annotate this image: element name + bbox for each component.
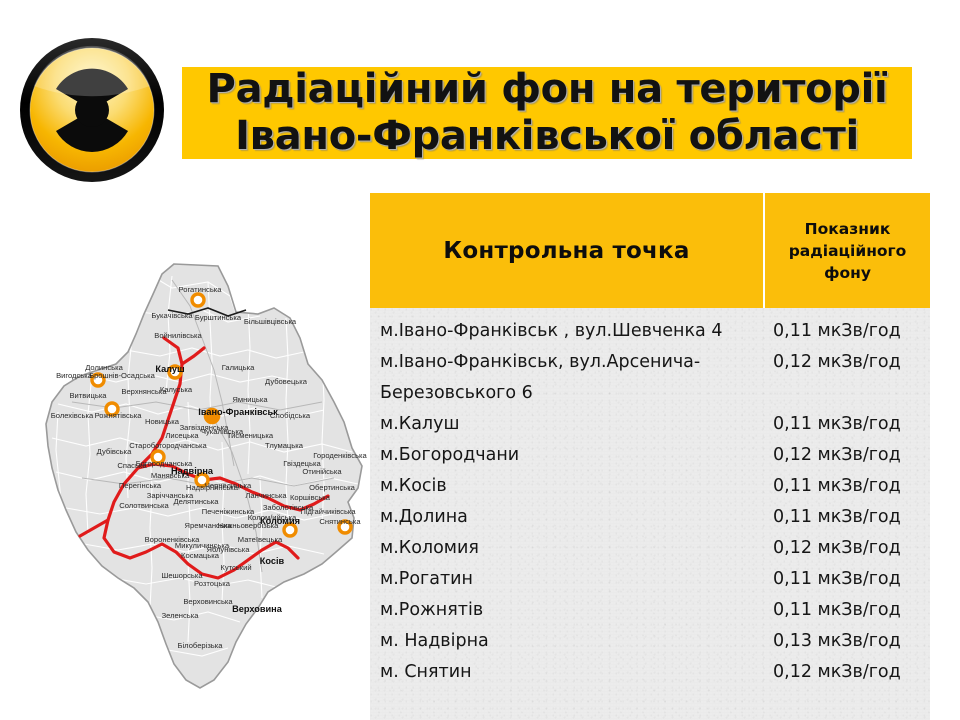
cell-control-point: м.Коломия <box>370 533 763 564</box>
map-district-label: Шешорська <box>161 571 203 580</box>
column-header-point: Контрольна точка <box>370 193 763 308</box>
cell-radiation-value: 0,12 мкЗв/год <box>763 347 930 378</box>
table-rows-container: м.Івано-Франківськ , вул.Шевченка 40,11 … <box>370 316 930 688</box>
cell-radiation-value: 0,11 мкЗв/год <box>763 564 930 595</box>
map-city-label: Коломия <box>260 516 300 526</box>
map-district-label: Букачівська <box>151 311 193 320</box>
map-district-label: Отинійська <box>302 467 342 476</box>
radiation-hazard-icon <box>16 34 168 186</box>
column-header-value-line-2: радіаційного <box>789 240 907 262</box>
marker-rohatyn <box>192 294 204 306</box>
map-district-label: Микуличинська <box>175 541 230 550</box>
map-district-label: Солотвинська <box>119 501 169 510</box>
map-district-label: Розтоцька <box>194 579 231 588</box>
map-district-label: Надвірнянська <box>186 483 239 492</box>
map-district-label: Лисецька <box>165 431 199 440</box>
map-district-label: Галицька <box>222 363 255 372</box>
radiation-table: Контрольна точка Показник радіаційного ф… <box>370 193 930 720</box>
map-city-label: Косів <box>260 556 285 566</box>
cell-control-point: м.Івано-Франківськ , вул.Шевченка 4 <box>370 316 763 347</box>
map-city-label: Калуш <box>155 364 184 374</box>
table-row: м.Богородчани0,12 мкЗв/год <box>370 440 930 471</box>
map-district-label: Старобогородчанська <box>129 441 207 450</box>
map-district-label: Заріччанська <box>147 491 194 500</box>
cell-radiation-value: 0,12 мкЗв/год <box>763 440 930 471</box>
map-district-label: Брошнів-Осадська <box>89 371 156 380</box>
map-district-label: Матеївецька <box>238 535 283 544</box>
page-title-line-2: Івано-Франківської області <box>182 113 912 160</box>
map-district-label: Зеленська <box>162 611 200 620</box>
ivano-frankivsk-oblast-map: РогатинськаБукачівськаБурштинськаБільшів… <box>22 252 370 694</box>
cell-control-point: м.Рожнятів <box>370 595 763 626</box>
map-district-label: Білоберізька <box>178 641 224 650</box>
cell-radiation-value: 0,11 мкЗв/год <box>763 316 930 347</box>
map-district-label: Більшівцівська <box>244 317 297 326</box>
cell-radiation-value: 0,11 мкЗв/год <box>763 595 930 626</box>
map-district-label: Дубівська <box>97 447 132 456</box>
map-district-label: Ямницька <box>232 395 268 404</box>
cell-control-point: м.Богородчани <box>370 440 763 471</box>
cell-control-point: м. Надвірна <box>370 626 763 657</box>
table-row: м.Рогатин0,11 мкЗв/год <box>370 564 930 595</box>
cell-control-point: м.Калуш <box>370 409 763 440</box>
map-district-label: Тисменицька <box>227 431 274 440</box>
map-district-label: Перегінська <box>119 481 162 490</box>
map-district-label: Городенківська <box>313 451 367 460</box>
map-district-label: Заболотівська <box>263 503 314 512</box>
cell-control-point: м. Снятин <box>370 657 763 688</box>
map-city-label: Надвірна <box>171 466 214 476</box>
column-header-value: Показник радіаційного фону <box>763 193 930 308</box>
map-district-label: Снятинська <box>319 517 361 526</box>
slide-canvas: Радіаційний фон на території Івано-Франк… <box>0 0 960 720</box>
table-row: м.Рожнятів0,11 мкЗв/год <box>370 595 930 626</box>
cell-control-point: м.Рогатин <box>370 564 763 595</box>
page-title: Радіаційний фон на території Івано-Франк… <box>182 66 912 160</box>
map-district-label: Вигодська <box>56 371 93 380</box>
table-row: м. Снятин0,12 мкЗв/год <box>370 657 930 688</box>
table-row: м. Надвірна0,13 мкЗв/год <box>370 626 930 657</box>
map-district-label: Коршівська <box>290 493 331 502</box>
map-district-label: Рогатинська <box>179 285 223 294</box>
column-header-value-line-3: фону <box>789 262 907 284</box>
map-district-label: Новицька <box>145 417 180 426</box>
column-header-value-line-1: Показник <box>789 218 907 240</box>
table-row: м.Косів0,11 мкЗв/год <box>370 471 930 502</box>
map-district-label: Бурштинська <box>195 313 242 322</box>
map-district-label: Дубовецька <box>265 377 308 386</box>
map-district-label: Верховинська <box>183 597 233 606</box>
table-row: м.Івано-Франківськ, вул.Арсенича-0,12 мк… <box>370 347 930 378</box>
cell-radiation-value: 0,11 мкЗв/год <box>763 471 930 502</box>
map-district-label: Калуська <box>160 385 193 394</box>
cell-radiation-value: 0,11 мкЗв/год <box>763 502 930 533</box>
table-body: м.Івано-Франківськ , вул.Шевченка 40,11 … <box>370 308 930 720</box>
table-row: м.Калуш0,11 мкЗв/год <box>370 409 930 440</box>
map-district-label: Космацька <box>181 551 220 560</box>
cell-radiation-value: 0,13 мкЗв/год <box>763 626 930 657</box>
map-district-label: Рожнятівська <box>95 411 143 420</box>
map-district-label: Кутський <box>220 563 251 572</box>
cell-control-point: м.Косів <box>370 471 763 502</box>
cell-control-point: м.Івано-Франківськ, вул.Арсенича- <box>370 347 763 378</box>
map-district-label: Обертинська <box>309 483 356 492</box>
table-header-row: Контрольна точка Показник радіаційного ф… <box>370 193 930 308</box>
map-district-label: Ланчинська <box>245 491 287 500</box>
page-title-line-1: Радіаційний фон на території <box>182 66 912 113</box>
cell-control-point-continuation: Березовського 6 <box>370 378 763 409</box>
map-district-label: Яремчанська <box>185 521 233 530</box>
cell-control-point: м.Долина <box>370 502 763 533</box>
map-district-label: Витвицька <box>69 391 107 400</box>
table-row: м.Коломия0,12 мкЗв/год <box>370 533 930 564</box>
map-district-label: Тлумацька <box>265 441 304 450</box>
cell-radiation-value: 0,11 мкЗв/год <box>763 409 930 440</box>
map-district-label: Болехівська <box>51 411 94 420</box>
table-row: м.Долина0,11 мкЗв/год <box>370 502 930 533</box>
table-row: м.Івано-Франківськ , вул.Шевченка 40,11 … <box>370 316 930 347</box>
cell-radiation-value: 0,12 мкЗв/год <box>763 657 930 688</box>
map-city-label: Івано-Франківськ <box>198 407 278 417</box>
cell-radiation-value: 0,12 мкЗв/год <box>763 533 930 564</box>
map-district-label: Войнилівська <box>154 331 202 340</box>
map-city-label: Верховина <box>232 604 283 614</box>
table-row-continuation: Березовського 6 <box>370 378 930 409</box>
